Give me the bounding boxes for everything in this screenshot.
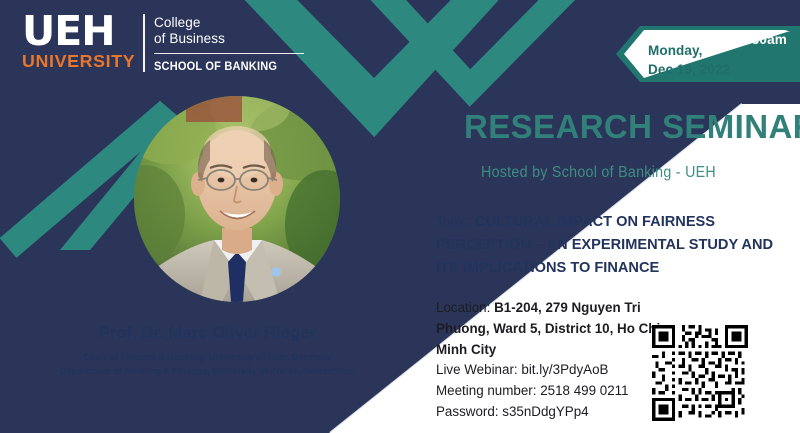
banner-time: 9:30am xyxy=(739,32,787,47)
qr-code[interactable] xyxy=(652,325,748,421)
logo-college-line2: of Business xyxy=(154,31,304,47)
location-line: Location: B1-204, 279 Nguyen Tri Phuong,… xyxy=(436,298,686,360)
webinar-label: Live Webinar: xyxy=(436,362,518,377)
qr-code-image xyxy=(652,325,748,421)
logo-university-word: UNIVERSITY xyxy=(22,53,135,71)
logo-rule xyxy=(154,53,304,54)
topic-text: CULTURAL IMPACT ON FAIRNESS PERCEPTION –… xyxy=(436,214,773,276)
event-poster: UEH UNIVERSITY College of Business SCHOO… xyxy=(0,0,800,433)
logo-college-line1: College xyxy=(154,15,304,31)
topic-label: Topic: xyxy=(436,214,471,229)
password-label: Password: xyxy=(436,404,499,419)
topic-block: Topic: CULTURAL IMPACT ON FAIRNESS PERCE… xyxy=(436,211,784,280)
event-details: Location: B1-204, 279 Nguyen Tri Phuong,… xyxy=(436,298,666,423)
seminar-title: RESEARCH SEMINAR xyxy=(464,108,800,146)
meeting-number-label: Meeting number: xyxy=(436,383,536,398)
ueh-logo: UEH UNIVERSITY College of Business SCHOO… xyxy=(22,12,304,73)
hosted-by-line: Hosted by School of Banking - UEH xyxy=(481,164,716,182)
logo-acronym: UEH xyxy=(22,12,115,51)
datetime-banner: 9:30am Monday, Dec 19, 2022 xyxy=(612,26,800,82)
speaker-affiliation-line1: Chair of Finance & Banking, University o… xyxy=(0,351,415,365)
speaker-affiliation: Chair of Finance & Banking, University o… xyxy=(0,351,415,378)
speaker-affiliation-line2: Department of Banking & Finance, Univers… xyxy=(0,365,415,379)
speaker-name: Prof. Dr. Marc Oliver Rieger xyxy=(0,324,415,343)
location-label: Location: xyxy=(436,300,490,315)
banner-date-line1: Monday, xyxy=(648,41,730,60)
meeting-number-line: Meeting number: 2518 499 0211 xyxy=(436,381,666,402)
banner-date: Monday, Dec 19, 2022 xyxy=(648,41,730,79)
password-line: Password: s35nDdgYPp4 xyxy=(436,402,666,423)
logo-wordmark: UEH UNIVERSITY xyxy=(22,12,133,70)
logo-divider xyxy=(143,14,145,72)
meeting-number-value: 2518 499 0211 xyxy=(540,383,628,398)
password-value: s35nDdgYPp4 xyxy=(502,404,588,419)
logo-school-name: SCHOOL OF BANKING xyxy=(154,59,292,73)
webinar-value[interactable]: bit.ly/3PdyAoB xyxy=(521,362,608,377)
banner-date-line2: Dec 19, 2022 xyxy=(648,60,730,79)
webinar-line: Live Webinar: bit.ly/3PdyAoB xyxy=(436,360,666,381)
logo-subtitle-group: College of Business SCHOOL OF BANKING xyxy=(154,12,304,73)
